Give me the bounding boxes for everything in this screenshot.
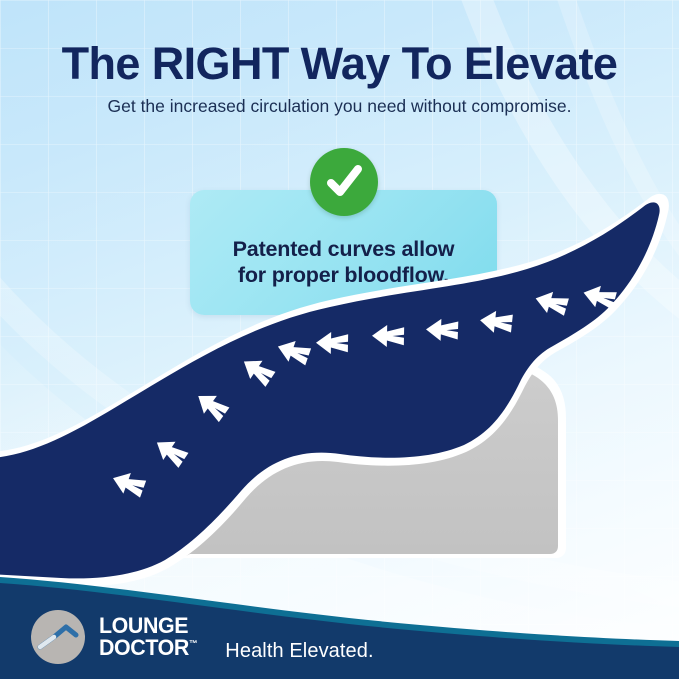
brand-wordmark: LOUNGE DOCTOR™ [99,615,197,658]
brand-tagline: Health Elevated. [225,640,373,665]
brand-line-2: DOCTOR™ [99,637,197,659]
brand-lockup: LOUNGE DOCTOR™ Health Elevated. [30,609,374,665]
brand-line-1: LOUNGE [99,615,197,637]
lounge-doctor-logo-icon [30,609,86,665]
trademark-symbol: ™ [189,639,197,649]
poster-canvas: The RIGHT Way To Elevate Get the increas… [0,0,679,679]
brand-line-2-text: DOCTOR [99,635,189,660]
